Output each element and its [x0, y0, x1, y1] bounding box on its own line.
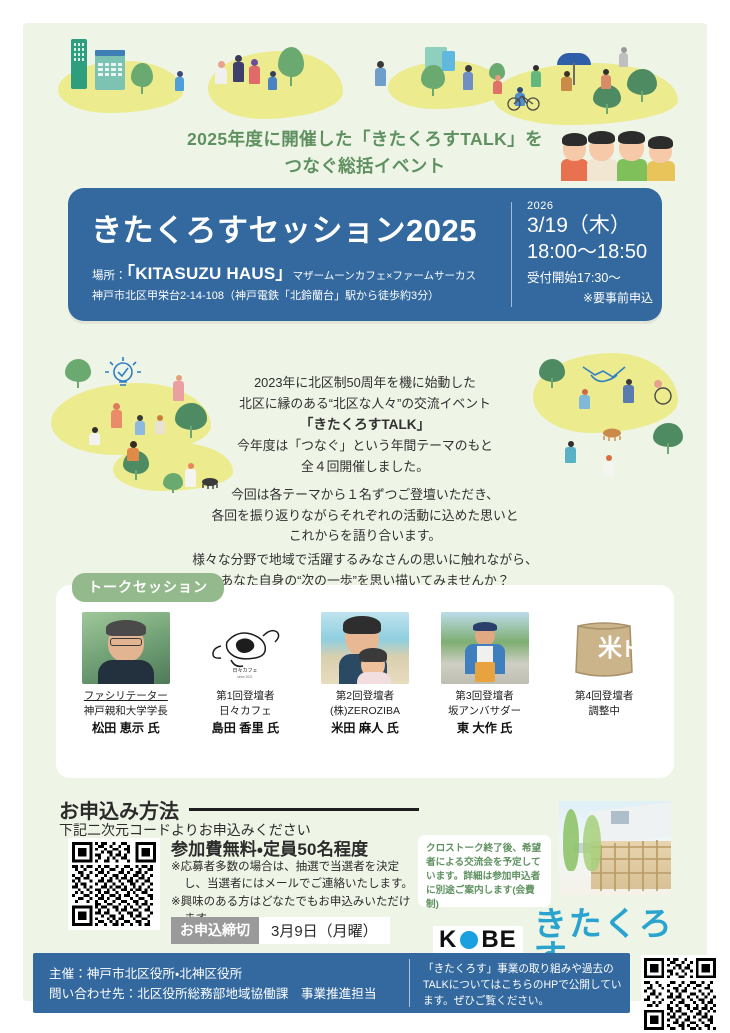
- event-year: 2026: [527, 200, 653, 212]
- intro-line: 北区に縁のある“北区な人々”の交流イベント: [23, 394, 707, 415]
- banner-divider: [511, 202, 512, 307]
- tree-icon: [278, 47, 304, 89]
- speaker-photo-東: [441, 612, 529, 684]
- intro-line: 今年度は「つなぐ」という年間テーマのもと: [23, 436, 707, 457]
- person-figure: [561, 131, 588, 181]
- venue-exterior-photo: [559, 801, 671, 895]
- event-datetime: 2026 3/19（木） 18:00〜18:50 受付開始17:30〜 ※要事前…: [527, 200, 653, 306]
- note-line: ※応募者多数の場合は、抽選で当選者を決定し、当選者にはメールでご連絡いたします。: [171, 859, 421, 894]
- kobe-logo: K BE: [433, 926, 523, 954]
- deadline-label: お申込締切: [171, 917, 259, 944]
- person-figure: [617, 125, 647, 181]
- intro-line: 2023年に北区制50周年を機に始動した: [23, 373, 707, 394]
- intro-paragraph-2: 今回は各テーマから１名ずつご登壇いただき、 各回を振り返りながらそれぞれの活動に…: [23, 485, 707, 547]
- kobe-logo-dot-icon: [460, 931, 478, 949]
- event-banner: きたくろすセッション2025 場所：「KITASUZU HAUS」マザームーンカ…: [68, 188, 662, 321]
- event-title: きたくろすセッション2025: [68, 205, 500, 250]
- person-figure: [215, 61, 227, 84]
- speaker-card: 日々カフェ since 2021 第1回登壇者 日々カフェ 島田 香里 氏: [186, 612, 306, 738]
- deadline-value: 3月9日（月曜）: [259, 917, 390, 944]
- kobe-logo-k: K: [439, 928, 457, 952]
- speaker-name: 島田 香里 氏: [186, 719, 306, 737]
- poster: 2025年度に開催した「きたくろすTALK」を つなぐ総括イベント きたくろすセ…: [23, 23, 707, 1001]
- svg-text:since 2021: since 2021: [238, 675, 254, 679]
- person-figure: [561, 71, 572, 91]
- speaker-photo-rice-bag: 米 ト: [560, 612, 648, 684]
- svg-text:米: 米: [598, 635, 622, 662]
- intro-line: これからを語り合います。: [23, 526, 707, 547]
- person-figure: [493, 75, 502, 94]
- intro-line: 今回は各テーマから１名ずつご登壇いただき、: [23, 485, 707, 506]
- afterparty-note: クロストーク終了後、希望者による交流会を予定しています。詳細は参加申込者に別途ご…: [418, 835, 551, 907]
- qr-code-image: [72, 842, 156, 926]
- talk-session-panel: トークセッション ファシリテーター 神戸親和大学学長 松田 恵示 氏: [56, 585, 674, 778]
- person-figure: [647, 135, 675, 181]
- person-figure: [268, 71, 277, 90]
- speaker-photo-日々カフェ: 日々カフェ since 2021: [201, 612, 289, 684]
- speaker-role: 第4回登壇者: [544, 689, 664, 704]
- speaker-list: ファシリテーター 神戸親和大学学長 松田 恵示 氏 日々カフェ: [66, 612, 664, 738]
- fee-and-capacity: 参加費無料・定員50名程度: [171, 835, 368, 860]
- tree-icon: [593, 85, 621, 117]
- speaker-org: 神戸親和大学学長: [66, 704, 186, 719]
- speaker-card: 第3回登壇者 坂アンバサダー 東 大作 氏: [425, 612, 545, 738]
- intro-line: 全４回開催しました。: [23, 457, 707, 478]
- speaker-name: 東 大作 氏: [425, 719, 545, 737]
- reception-time: 受付開始17:30〜: [527, 267, 653, 286]
- person-figure: [463, 65, 473, 90]
- speaker-card: 米 ト 第4回登壇者 調整中: [544, 612, 664, 738]
- speaker-role: 第3回登壇者: [425, 689, 545, 704]
- kobe-logo-be: BE: [481, 928, 516, 952]
- svg-text:日々カフェ: 日々カフェ: [233, 667, 258, 674]
- venue-line: 場所：「KITASUZU HAUS」マザームーンカフェ×ファームサーカス: [92, 264, 504, 285]
- speaker-role: 第2回登壇者: [305, 689, 425, 704]
- person-figure: [175, 71, 184, 91]
- speaker-name: 米田 麻人 氏: [305, 719, 425, 737]
- building-icon: [95, 55, 125, 90]
- deadline-row: お申込締切 3月9日（月曜）: [171, 917, 390, 944]
- person-figure: [601, 69, 611, 89]
- place-label: 場所：: [92, 270, 127, 282]
- heading-rule: [189, 808, 419, 811]
- person-figure: [375, 61, 386, 86]
- facade-frame: [591, 839, 671, 891]
- speaker-photo-米田: [321, 612, 409, 684]
- rice-bag-icon: 米 ト: [560, 612, 648, 684]
- talk-session-badge: トークセッション: [72, 573, 224, 602]
- parasol-pole: [573, 63, 575, 85]
- speaker-card: ファシリテーター 神戸親和大学学長 松田 恵示 氏: [66, 612, 186, 738]
- qr-code-image: [644, 958, 716, 1030]
- venue-subtitle: マザームーンカフェ×ファームサーカス: [293, 270, 476, 282]
- person-figure: [249, 59, 260, 84]
- hp-qr-code[interactable]: [641, 955, 719, 1033]
- intro-line: 各回を振り返りながらそれぞれの活動に込めた思いと: [23, 506, 707, 527]
- tree-icon: [131, 63, 153, 97]
- speaker-photo-松田: [82, 612, 170, 684]
- intro-line: 様々な分野で地域で活躍するみなさんの思いに触れながら、: [23, 550, 707, 571]
- intro-line: 「きたくろすTALK」: [23, 414, 707, 436]
- person-figure: [619, 47, 628, 67]
- venue-name: 「KITASUZU HAUS」: [127, 264, 293, 283]
- speaker-role: 第1回登壇者: [186, 689, 306, 704]
- building-icon: [71, 39, 87, 89]
- advance-booking-note: ※要事前申込: [527, 289, 653, 306]
- venue-address: 神戸市北区甲栄台2-14-108（神戸電鉄「北鈴蘭台」駅から徒歩約3分）: [92, 287, 439, 303]
- event-time: 18:00〜18:50: [527, 239, 653, 265]
- tree-icon: [627, 69, 657, 105]
- speaker-name: 松田 恵示 氏: [66, 719, 186, 737]
- person-figure: [587, 123, 617, 181]
- event-date: 3/19（木）: [527, 213, 653, 239]
- intro-paragraph-1: 2023年に北区制50周年を機に始動した 北区に縁のある“北区な人々”の交流イベ…: [23, 373, 707, 478]
- person-figure: [233, 55, 244, 82]
- speaker-card: 第2回登壇者 (株)ZEROZIBA 米田 麻人 氏: [305, 612, 425, 738]
- speaker-role: ファシリテーター: [66, 689, 186, 704]
- person-figure: [531, 65, 541, 87]
- speaker-org: 日々カフェ: [186, 704, 306, 719]
- tree-icon: [421, 65, 445, 99]
- hibi-cafe-logo-icon: 日々カフェ since 2021: [201, 612, 289, 684]
- svg-text:ト: ト: [620, 639, 640, 661]
- speaker-org: 坂アンバサダー: [425, 704, 545, 719]
- speaker-org: 調整中: [544, 704, 664, 719]
- friends-illustration: [561, 119, 679, 181]
- application-qr-code[interactable]: [68, 838, 160, 930]
- bicycle-icon: [507, 91, 541, 111]
- speaker-org: (株)ZEROZIBA: [305, 704, 425, 719]
